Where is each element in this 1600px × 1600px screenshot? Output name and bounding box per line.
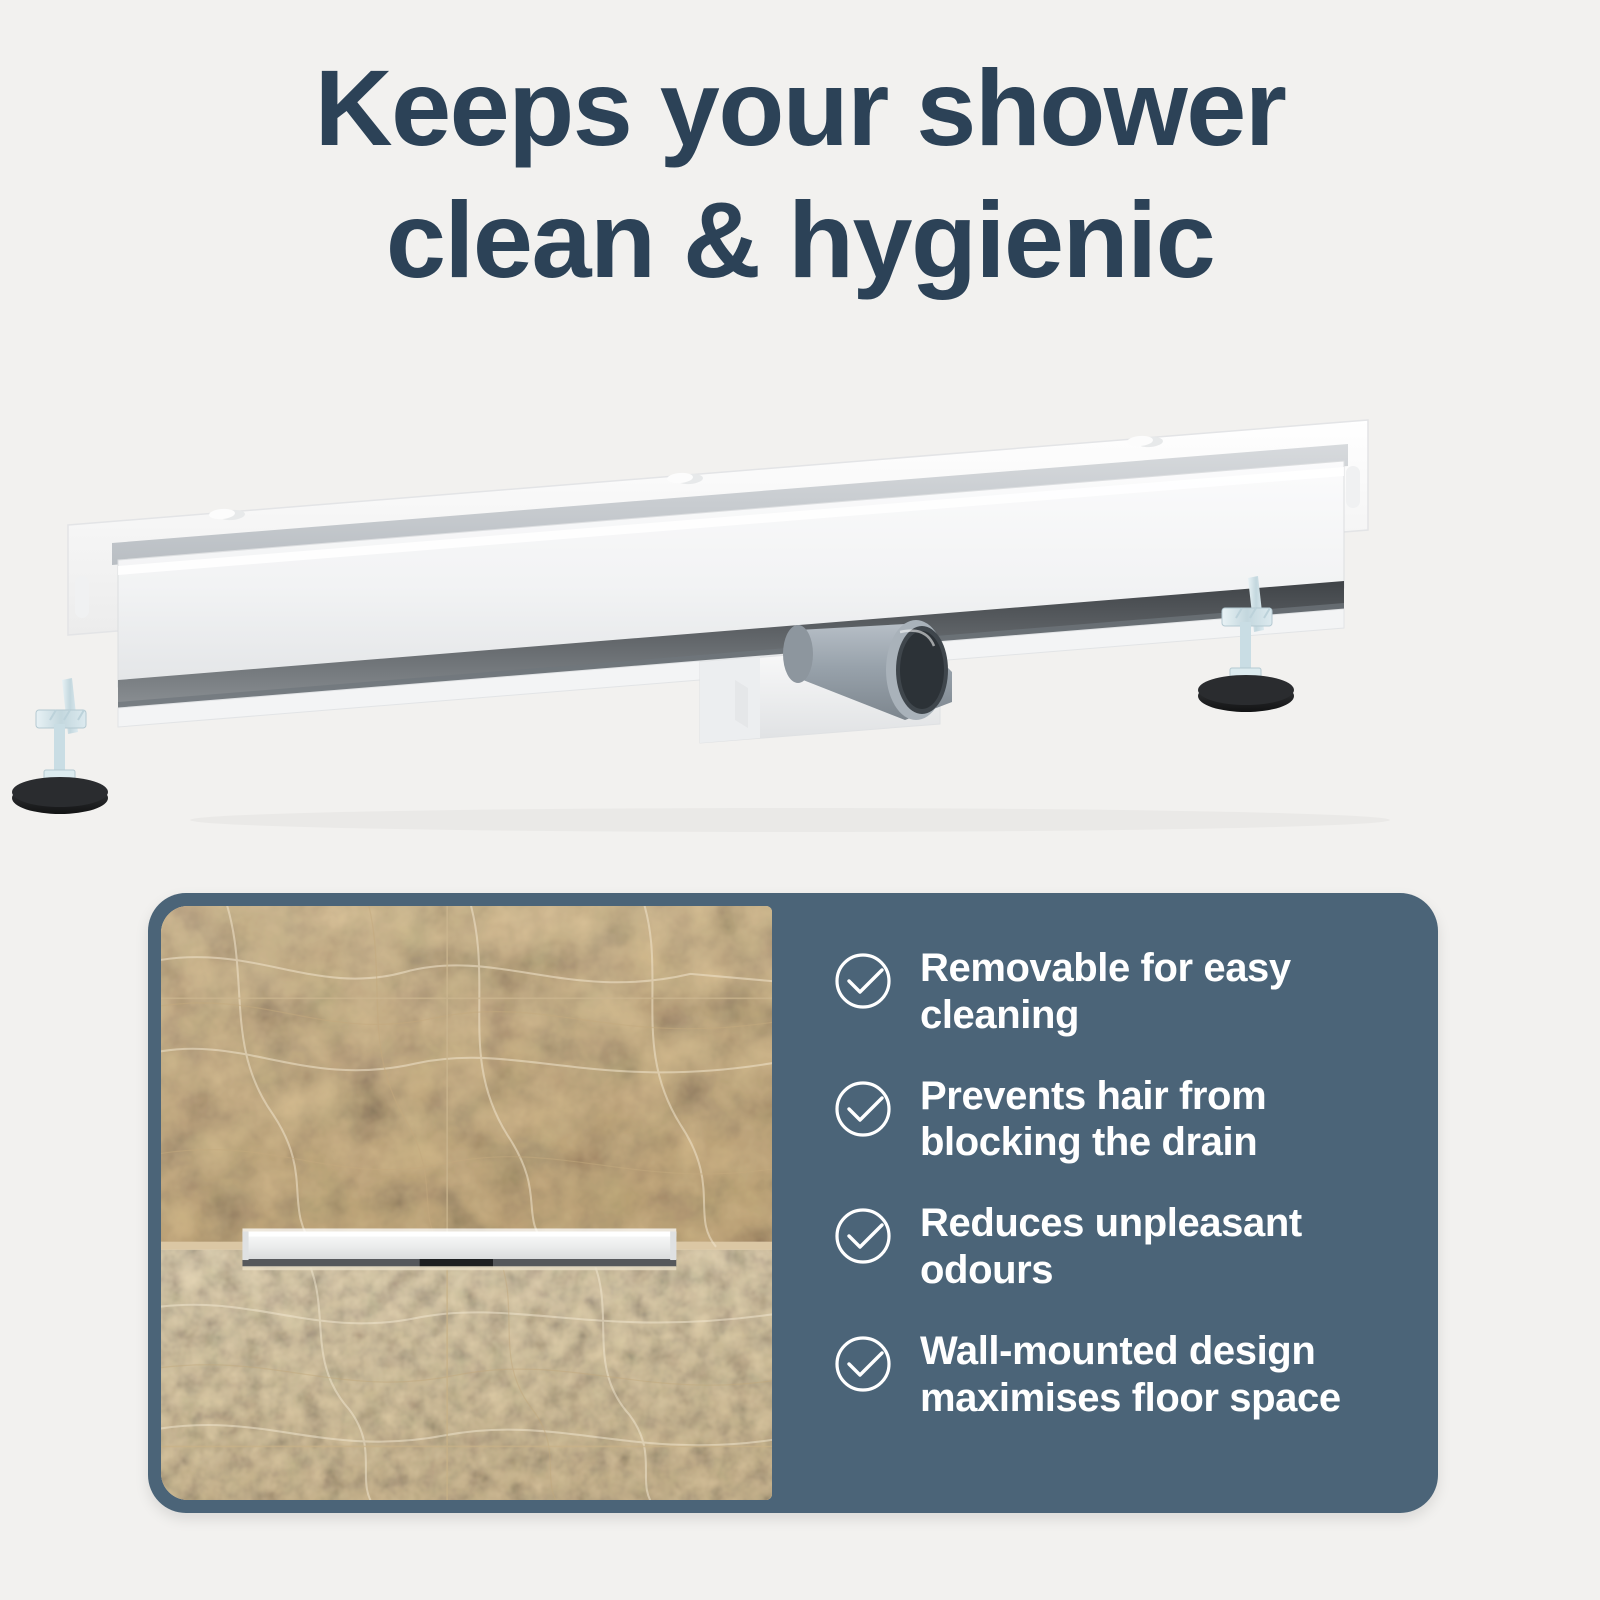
feature-item: Removable for easy cleaning [830, 945, 1414, 1039]
installed-drain-grate [242, 1228, 676, 1270]
flange-right-tab [1346, 466, 1360, 508]
headline-line-1: Keeps your shower [315, 47, 1286, 168]
hero-shadow [190, 808, 1390, 832]
adjustable-leg-left [12, 678, 108, 814]
trap-housing-side [700, 657, 760, 743]
feature-label: Wall-mounted design maximises floor spac… [920, 1328, 1414, 1422]
feature-list: Removable for easy cleaning Prevents hai… [772, 893, 1438, 1513]
check-circle-icon [830, 1202, 896, 1268]
flange-left-tab [75, 576, 89, 618]
product-hero-image [0, 380, 1600, 840]
trap-inner-baffle [735, 680, 748, 728]
features-panel: Removable for easy cleaning Prevents hai… [148, 893, 1438, 1513]
page-title: Keeps your shower clean & hygienic [0, 42, 1600, 306]
feature-label: Reduces unpleasant odours [920, 1200, 1414, 1294]
feature-item: Reduces unpleasant odours [830, 1200, 1414, 1294]
headline-line-2: clean & hygienic [120, 174, 1480, 306]
check-circle-icon [830, 1075, 896, 1141]
check-circle-icon [830, 947, 896, 1013]
check-circle-icon [830, 1330, 896, 1396]
feature-item: Prevents hair from blocking the drain [830, 1073, 1414, 1167]
tile-image-container [148, 893, 772, 1513]
feature-label: Prevents hair from blocking the drain [920, 1073, 1414, 1167]
feature-label: Removable for easy cleaning [920, 945, 1414, 1039]
installed-drain-on-travertine-tile [161, 906, 772, 1500]
feature-item: Wall-mounted design maximises floor spac… [830, 1328, 1414, 1422]
